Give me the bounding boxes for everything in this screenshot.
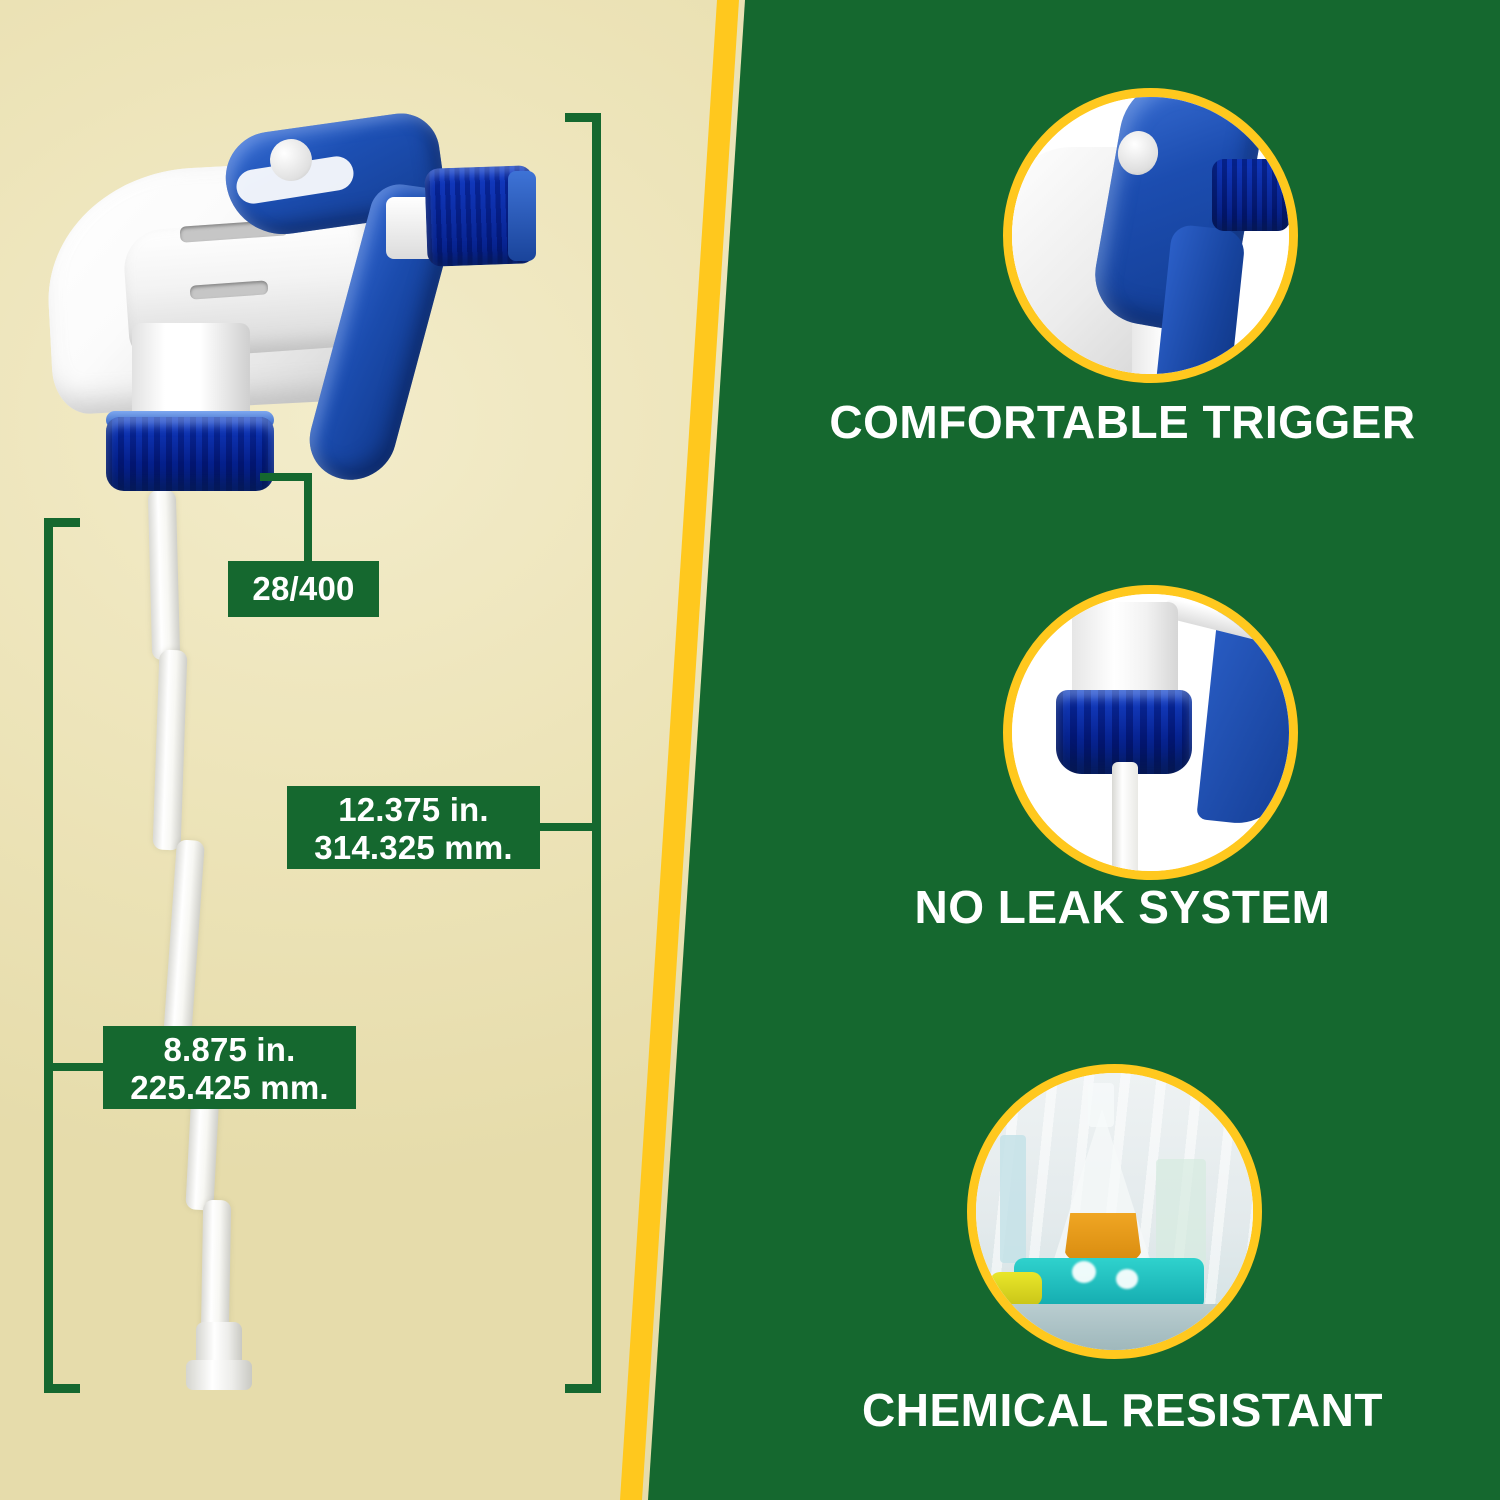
thread-size-value: 28/400 xyxy=(252,570,354,608)
dip-tube-segment xyxy=(201,1200,231,1340)
overall-length-leader xyxy=(538,823,596,831)
bracket-vertical xyxy=(592,113,601,1393)
cap-closeup-photo xyxy=(1003,585,1298,880)
feature-title-chemical-resistant: CHEMICAL RESISTANT xyxy=(0,1383,1500,1437)
orange-liquid-art xyxy=(1064,1213,1142,1261)
feature-title-no-leak-system: NO LEAK SYSTEM xyxy=(0,880,1500,934)
feature-title-comfortable-trigger: COMFORTABLE TRIGGER xyxy=(0,395,1500,449)
thread-leader-vertical xyxy=(304,473,312,565)
teal-liquid-art xyxy=(1014,1258,1204,1310)
highlight-art xyxy=(1072,1261,1096,1283)
spray-nozzle-face xyxy=(508,171,536,261)
bracket-tick-top xyxy=(44,518,80,527)
dip-tube-length-label: 8.875 in. 225.425 mm. xyxy=(103,1026,356,1109)
trigger-closeup-photo xyxy=(1003,88,1298,383)
bracket-vertical xyxy=(44,518,53,1393)
thread-size-label: 28/400 xyxy=(228,561,379,617)
bracket-tick-top xyxy=(565,113,601,122)
beaker-art xyxy=(1156,1159,1206,1271)
overall-length-inches: 12.375 in. xyxy=(338,791,489,829)
yellow-liquid-art xyxy=(990,1272,1042,1306)
blue-nozzle-art xyxy=(1212,159,1290,231)
dip-tube-segment xyxy=(153,650,188,851)
dip-tube-leader xyxy=(44,1063,110,1071)
overall-length-label: 12.375 in. 314.325 mm. xyxy=(287,786,540,869)
infographic-canvas: 28/400 12.375 in. 314.325 mm. 8.875 in. … xyxy=(0,0,1500,1500)
lab-glassware-photo xyxy=(967,1064,1262,1359)
flask-neck-art xyxy=(1088,1083,1114,1127)
dip-tube-segment xyxy=(163,839,205,1040)
highlight-art xyxy=(1116,1269,1138,1289)
trigger-sprayer-head xyxy=(30,105,560,535)
graduated-cylinder-art xyxy=(1000,1135,1026,1263)
dip-tube-length-mm: 225.425 mm. xyxy=(130,1069,329,1107)
product-photo xyxy=(0,0,640,1440)
overall-length-mm: 314.325 mm. xyxy=(314,829,513,867)
dip-tube-length-inches: 8.875 in. xyxy=(163,1031,295,1069)
dip-tube-art xyxy=(1112,762,1138,880)
table-surface-art xyxy=(976,1304,1253,1350)
